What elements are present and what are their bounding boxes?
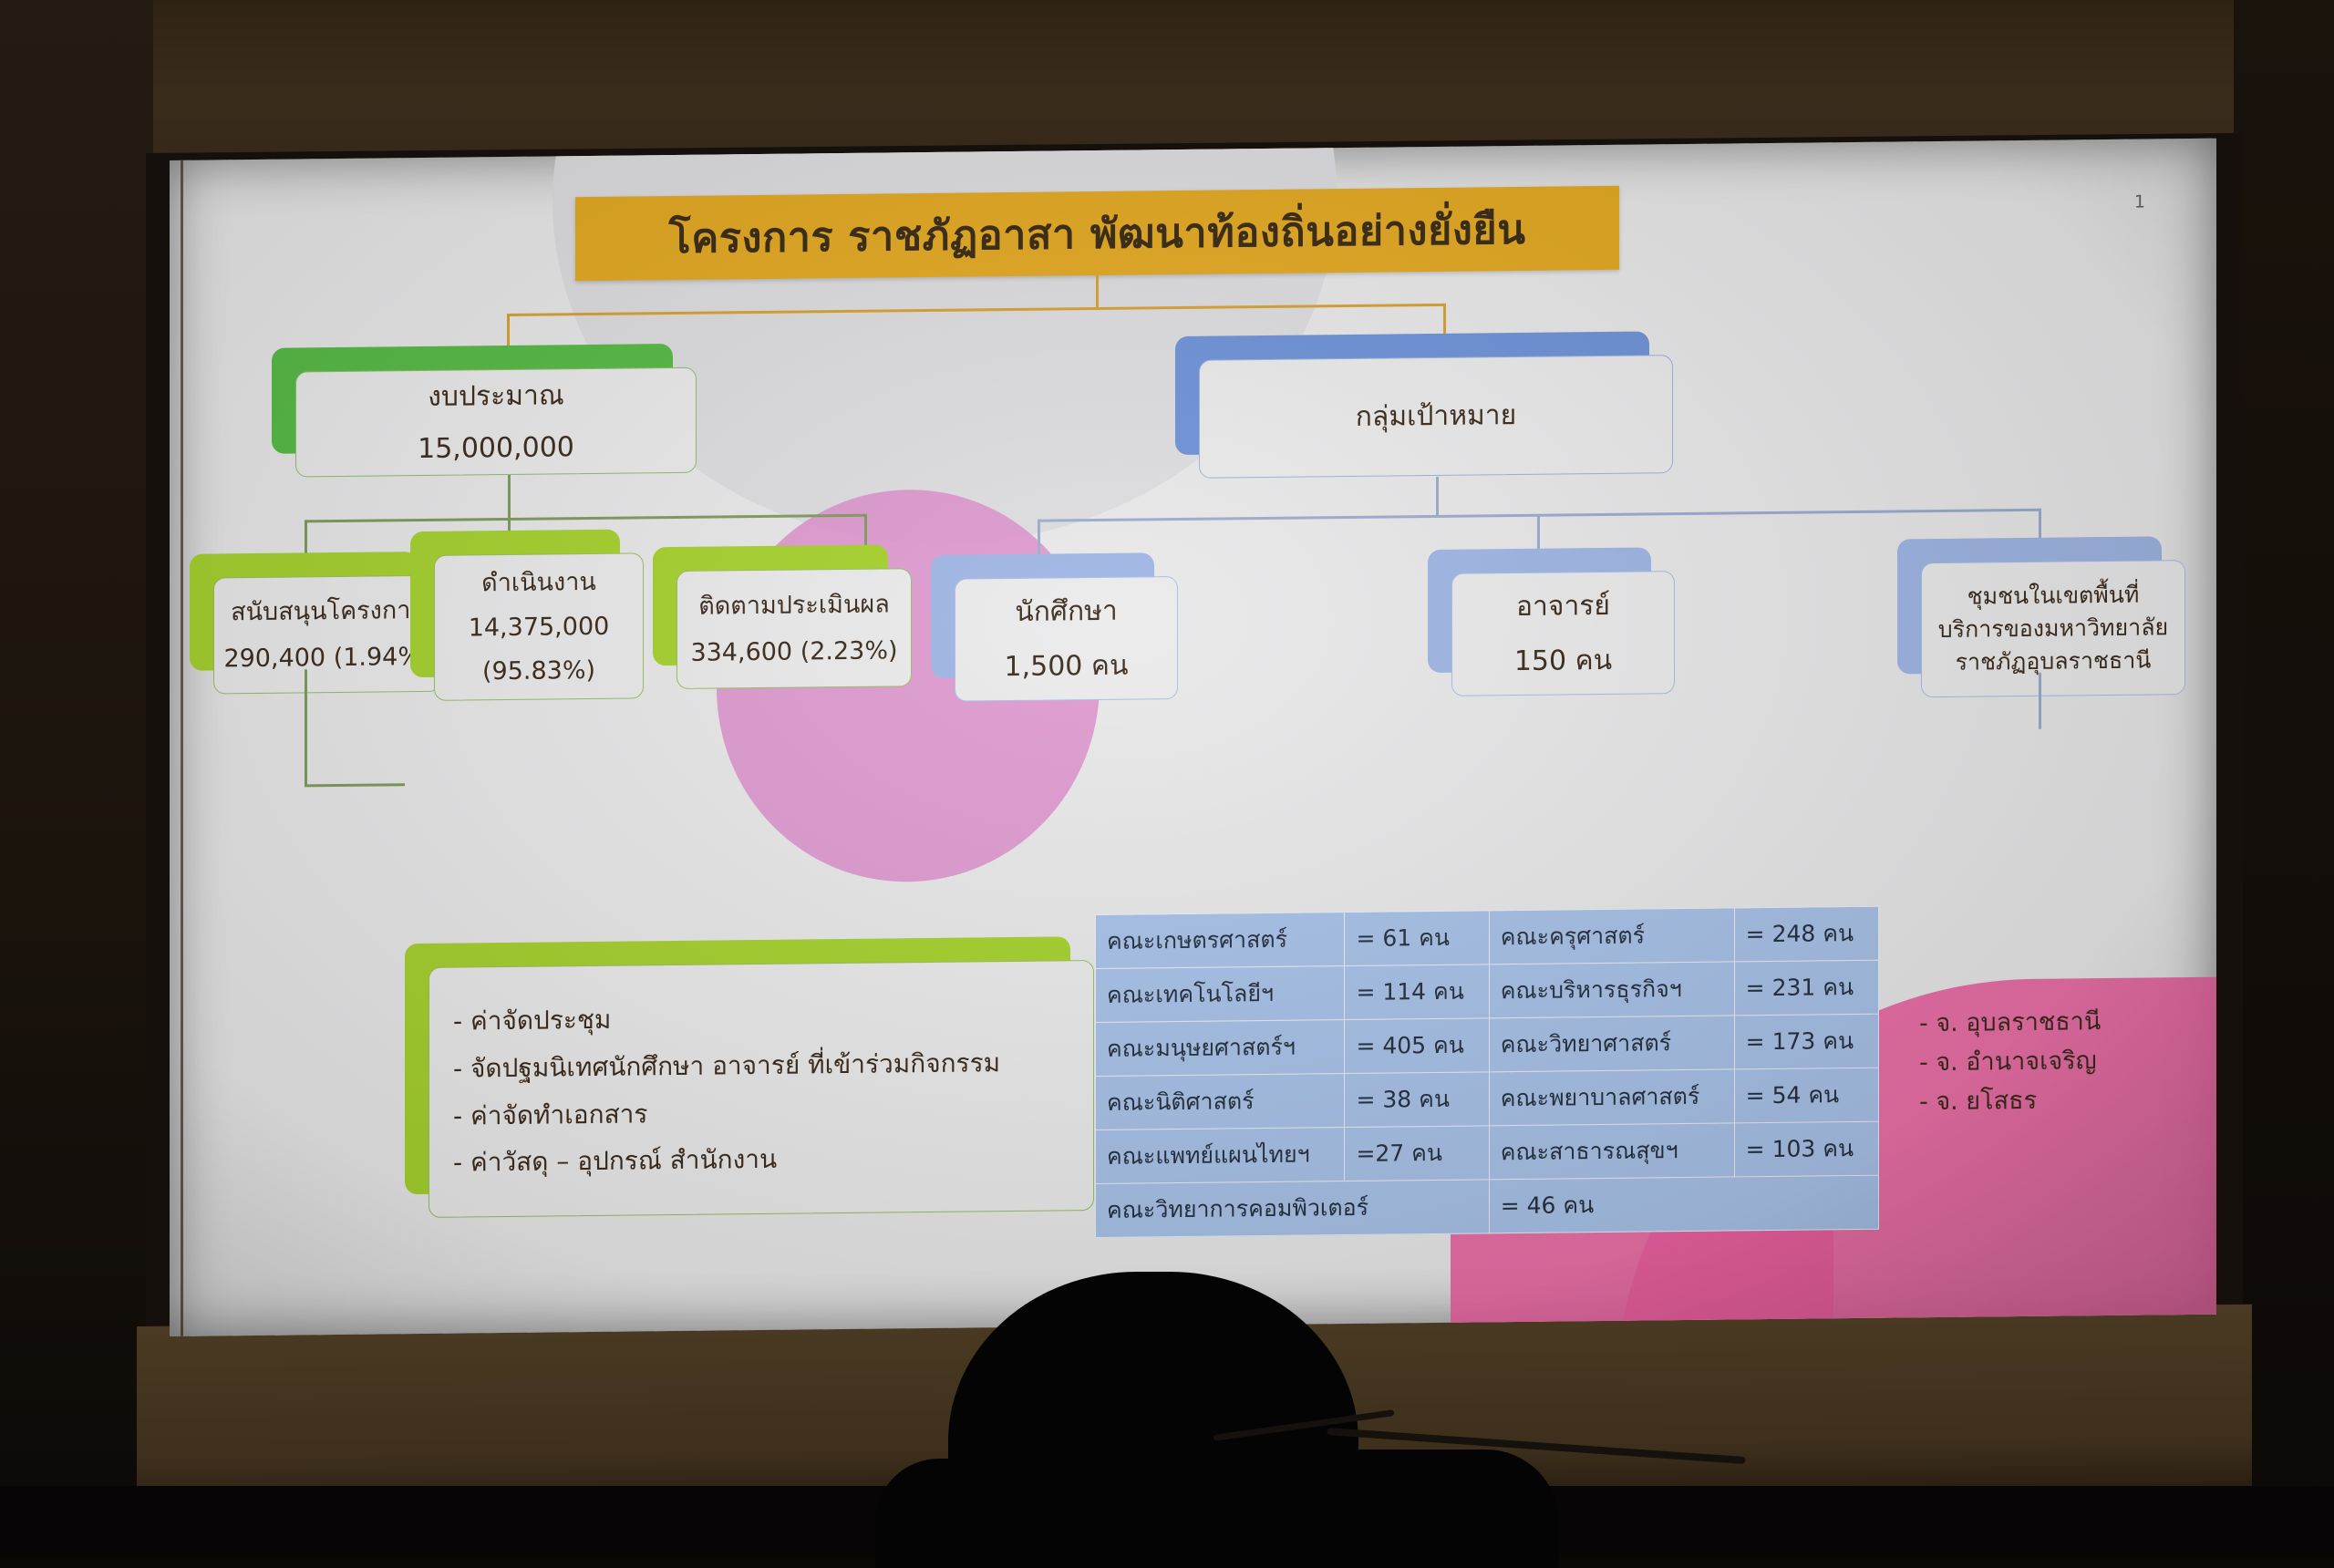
connector-community-down	[2039, 673, 2041, 729]
province-item: - จ. ยโสธร	[1919, 1086, 2149, 1117]
connector-target-down	[1436, 477, 1439, 517]
faculty-left-value: =27 คน	[1345, 1126, 1489, 1181]
faculty-student-count-table: คณะเกษตรศาสตร์ = 61 คน คณะครุศาสตร์ = 24…	[1095, 906, 1879, 1238]
table-row: คณะนิติศาสตร์ = 38 คน คณะพยาบาลศาสตร์ = …	[1096, 1068, 1879, 1130]
node-target-students[interactable]: นักศึกษา 1,500 คน	[931, 552, 1154, 678]
node-budget[interactable]: งบประมาณ 15,000,000	[272, 344, 673, 454]
node-support-card: สนับสนุนโครงการ 290,400 (1.94%)	[213, 575, 441, 695]
table-row: คณะเทคโนโลยีฯ = 114 คน คณะบริหารธุรกิจฯ …	[1096, 960, 1879, 1022]
operation-label: ดำเนินงาน	[481, 564, 596, 602]
node-budget-card: งบประมาณ 15,000,000	[295, 367, 697, 478]
community-line-1: ชุมชนในเขตพื้นที่	[1967, 578, 2140, 613]
audience-shoulder-right	[1176, 1449, 1559, 1568]
lecturers-value: 150 คน	[1514, 640, 1612, 681]
students-label: นักศึกษา	[1015, 592, 1118, 633]
faculty-right-label: คณะพยาบาลศาสตร์	[1489, 1069, 1734, 1126]
faculty-left-value: = 114 คน	[1345, 965, 1489, 1020]
community-line-3: ราชภัฏอุบลราชธานี	[1956, 645, 2152, 680]
faculty-left-value: = 61 คน	[1345, 911, 1489, 966]
decorative-pink-corner-bar	[1451, 1218, 1833, 1336]
node-evaluation-card: ติดตามประเมินผล 334,600 (2.23%)	[676, 568, 912, 689]
faculty-right-label: คณะวิทยาศาสตร์	[1489, 1016, 1734, 1072]
audience-shoulder-left	[875, 1459, 1176, 1568]
faculty-left-label: คณะเทคโนโลยีฯ	[1096, 966, 1345, 1023]
faculty-right-label: คณะครุศาสตร์	[1489, 908, 1734, 965]
evaluation-value: 334,600 (2.23%)	[690, 633, 897, 671]
faculty-left-label: คณะเกษตรศาสตร์	[1096, 913, 1345, 969]
table-row: คณะเกษตรศาสตร์ = 61 คน คณะครุศาสตร์ = 24…	[1096, 906, 1879, 968]
target-heading: กลุ่มเป้าหมาย	[1356, 396, 1516, 437]
connector-budget-b1	[305, 520, 307, 554]
province-item: - จ. อุบลราชธานี	[1919, 1007, 2149, 1038]
slide-title-banner: โครงการ ราชภัฏอาสา พัฒนาท้องถิ่นอย่างยั่…	[575, 186, 1619, 281]
budget-amount: 15,000,000	[418, 428, 574, 469]
faculty-left-value: = 38 คน	[1345, 1072, 1489, 1128]
faculty-right-value: = 103 คน	[1734, 1121, 1878, 1177]
faculty-right-value: = 248 คน	[1734, 906, 1878, 962]
table-row: คณะวิทยาการคอมพิวเตอร์ = 46 คน	[1096, 1175, 1879, 1237]
wall-left	[0, 0, 153, 1556]
operation-value-pct: (95.83%)	[482, 653, 595, 689]
community-line-2: บริการของมหาวิทยาลัย	[1938, 611, 2168, 646]
connector-support-down	[305, 669, 307, 786]
node-target-card: กลุ่มเป้าหมาย	[1199, 355, 1673, 479]
detail-item: - ค่าวัสดุ – อุปกรณ์ สำนักงาน	[453, 1144, 777, 1178]
faculty-left-label: คณะนิติศาสตร์	[1096, 1074, 1345, 1130]
node-province-list[interactable]: - จ. อุบลราชธานี - จ. อำนาจเจริญ - จ. ยโ…	[1897, 986, 2171, 1199]
budget-heading: งบประมาณ	[428, 376, 563, 417]
faculty-left-label: คณะมนุษยศาสตร์ฯ	[1096, 1020, 1345, 1077]
connector-budget-b3	[864, 514, 867, 549]
node-budget-detail-list[interactable]: - ค่าจัดประชุม - จัดปฐมนิเทศนักศึกษา อาจ…	[405, 936, 1070, 1194]
table-row: คณะแพทย์แผนไทยฯ =27 คน คณะสาธารณสุขฯ = 1…	[1096, 1121, 1879, 1183]
students-value: 1,500 คน	[1005, 645, 1129, 686]
faculty-left-label: คณะวิทยาการคอมพิวเตอร์	[1096, 1180, 1490, 1238]
connector-detail-in	[305, 783, 405, 787]
node-community-card: ชุมชนในเขตพื้นที่ บริการของมหาวิทยาลัย ร…	[1921, 560, 2185, 697]
lecturers-label: อาจารย์	[1516, 586, 1610, 627]
faculty-right-value: = 231 คน	[1734, 960, 1878, 1016]
faculty-table-body: คณะเกษตรศาสตร์ = 61 คน คณะครุศาสตร์ = 24…	[1096, 906, 1879, 1237]
connector-budget-bus	[305, 514, 866, 522]
faculty-right-value: = 54 คน	[1734, 1068, 1878, 1123]
page-number: 1	[2134, 192, 2145, 212]
connector-target-b2	[1537, 514, 1540, 551]
node-budget-item-evaluation[interactable]: ติดตามประเมินผล 334,600 (2.23%)	[653, 544, 888, 665]
node-operation-card: ดำเนินงาน 14,375,000 (95.83%)	[434, 552, 644, 700]
detail-item: - ค่าจัดประชุม	[453, 1005, 611, 1037]
operation-value: 14,375,000	[469, 609, 610, 646]
support-value: 290,400 (1.94%)	[223, 639, 430, 677]
node-budget-item-operation[interactable]: ดำเนินงาน 14,375,000 (95.83%)	[410, 530, 620, 677]
node-budget-item-support[interactable]: สนับสนุนโครงการ 290,400 (1.94%)	[190, 552, 418, 671]
node-lecturers-card: อาจารย์ 150 คน	[1451, 571, 1675, 696]
connector-title-down	[1096, 275, 1099, 308]
connector-target-b1	[1038, 520, 1040, 556]
connector-title-bus	[507, 304, 1446, 316]
faculty-left-label: คณะแพทย์แผนไทยฯ	[1096, 1128, 1345, 1184]
faculty-table-element: คณะเกษตรศาสตร์ = 61 คน คณะครุศาสตร์ = 24…	[1095, 906, 1879, 1238]
province-box-card: - จ. อุบลราชธานี - จ. อำนาจเจริญ - จ. ยโ…	[1897, 986, 2171, 1136]
faculty-left-value: = 405 คน	[1345, 1018, 1489, 1074]
table-row: คณะมนุษยศาสตร์ฯ = 405 คน คณะวิทยาศาสตร์ …	[1096, 1014, 1879, 1076]
detail-list-card: - ค่าจัดประชุม - จัดปฐมนิเทศนักศึกษา อาจ…	[429, 960, 1094, 1218]
support-label: สนับสนุนโครงการ	[231, 593, 424, 630]
connector-budget-down	[508, 475, 511, 519]
faculty-right-label: คณะสาธารณสุขฯ	[1489, 1123, 1734, 1180]
province-item: - จ. อำนาจเจริญ	[1919, 1047, 2149, 1078]
page-title: โครงการ ราชภัฏอาสา พัฒนาท้องถิ่นอย่างยั่…	[669, 196, 1526, 271]
node-students-card: นักศึกษา 1,500 คน	[955, 576, 1178, 702]
slide-edge-line	[181, 160, 183, 1336]
detail-item: - จัดปฐมนิเทศนักศึกษา อาจารย์ ที่เข้าร่ว…	[453, 1047, 1000, 1084]
node-target-group[interactable]: กลุ่มเป้าหมาย	[1175, 331, 1649, 455]
detail-item: - ค่าจัดทำเอกสาร	[453, 1099, 647, 1131]
projection-room: โครงการ ราชภัฏอาสา พัฒนาท้องถิ่นอย่างยั่…	[0, 0, 2334, 1556]
node-target-community[interactable]: ชุมชนในเขตพื้นที่ บริการของมหาวิทยาลัย ร…	[1897, 536, 2162, 674]
evaluation-label: ติดตามประเมินผล	[698, 586, 890, 624]
faculty-right-value: = 173 คน	[1734, 1014, 1878, 1069]
node-target-lecturers[interactable]: อาจารย์ 150 คน	[1428, 547, 1651, 673]
projected-slide: โครงการ ราชภัฏอาสา พัฒนาท้องถิ่นอย่างยั่…	[170, 139, 2216, 1336]
faculty-right-label: คณะบริหารธุรกิจฯ	[1489, 962, 1734, 1018]
faculty-left-value: = 46 คน	[1489, 1175, 1878, 1233]
